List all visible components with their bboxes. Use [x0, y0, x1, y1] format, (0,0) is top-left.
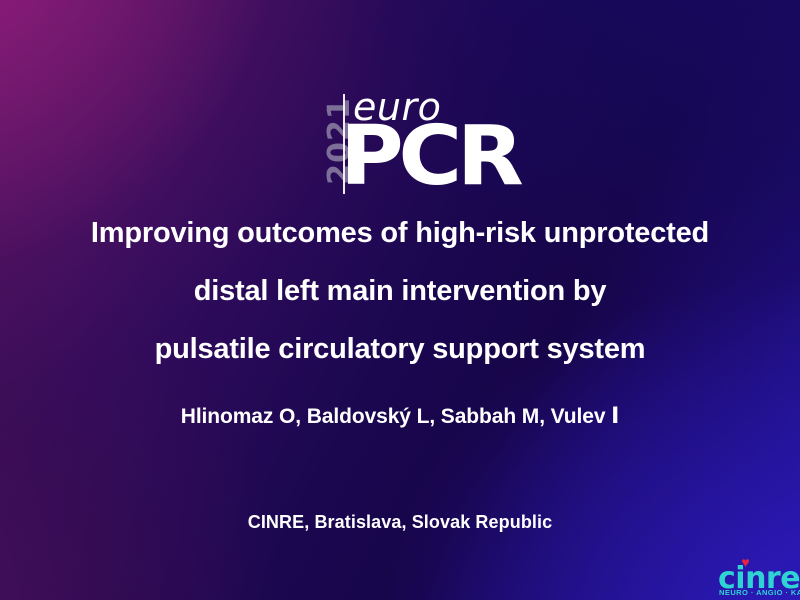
europcr-logo-pcr-text: PCR: [340, 116, 519, 198]
affiliation-text: CINRE, Bratislava, Slovak Republic: [0, 512, 800, 533]
cinre-logo-tagline: NEURO · ANGIO · KARDIO: [719, 589, 800, 597]
title-line-1: Improving outcomes of high-risk unprotec…: [0, 204, 800, 262]
page-title: Improving outcomes of high-risk unprotec…: [0, 204, 800, 378]
presentation-slide: 2021 euro PCR Improving outcomes of high…: [0, 0, 800, 600]
author-names: Hlinomaz O, Baldovský L, Sabbah M, Vulev: [181, 405, 611, 428]
author-list: Hlinomaz O, Baldovský L, Sabbah M, Vulev…: [0, 404, 800, 429]
title-line-3: pulsatile circulatory support system: [0, 320, 800, 378]
europcr-logo: 2021 euro PCR: [300, 88, 520, 196]
author-last-initial: I: [611, 404, 619, 429]
title-line-2: distal left main intervention by: [0, 262, 800, 320]
cinre-logo: ♥ cinre NEURO · ANGIO · KARDIO: [712, 556, 800, 600]
